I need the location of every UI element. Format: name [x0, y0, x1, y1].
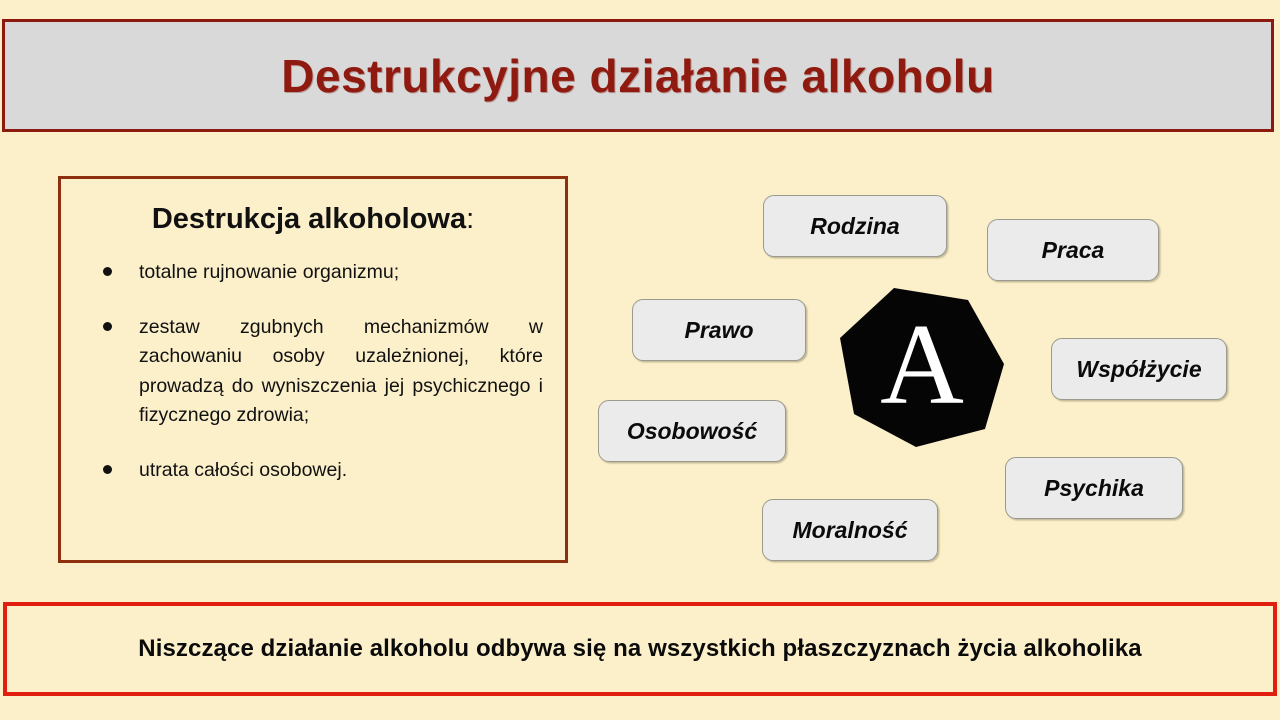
list-item-label: zestaw zgubnych mechanizmów w zachowaniu…: [139, 313, 543, 432]
diagram-node-moralnosc: Moralność: [762, 499, 938, 561]
diagram-node-label: Praca: [1042, 237, 1105, 264]
list-item-label: totalne rujnowanie organizmu;: [139, 258, 543, 288]
bullet-dot-icon: [103, 322, 112, 331]
list-item-label: utrata całości osobowej.: [139, 456, 543, 486]
diagram-node-label: Rodzina: [810, 213, 899, 240]
diagram-node-label: Osobowość: [627, 418, 757, 445]
bullet-dot-icon: [103, 267, 112, 276]
diagram-center-node: A: [838, 286, 1006, 448]
list-item: utrata całości osobowej.: [97, 456, 543, 486]
diagram-node-rodzina: Rodzina: [763, 195, 947, 257]
slide-root: Destrukcyjne działanie alkoholu Destrukc…: [0, 0, 1280, 720]
destruction-info-panel: Destrukcja alkoholowa: totalne rujnowani…: [58, 176, 568, 563]
alcohol-impact-diagram: Rodzina Praca Prawo Współżycie Osobowość…: [590, 176, 1250, 566]
list-item: zestaw zgubnych mechanizmów w zachowaniu…: [97, 313, 543, 432]
panel-heading-colon: :: [466, 203, 474, 235]
bullet-dot-icon: [103, 465, 112, 474]
list-item: totalne rujnowanie organizmu;: [97, 258, 543, 288]
center-letter-a: A: [838, 286, 1006, 448]
diagram-node-praca: Praca: [987, 219, 1159, 281]
diagram-node-label: Moralność: [792, 517, 907, 544]
panel-heading-strong: Destrukcja alkoholowa: [152, 203, 466, 235]
diagram-node-prawo: Prawo: [632, 299, 806, 361]
diagram-node-psychika: Psychika: [1005, 457, 1183, 519]
slide-title-band: Destrukcyjne działanie alkoholu: [2, 19, 1274, 132]
panel-heading: Destrukcja alkoholowa:: [61, 204, 565, 236]
summary-banner-text: Niszczące działanie alkoholu odbywa się …: [138, 635, 1141, 663]
diagram-node-osobowosc: Osobowość: [598, 400, 786, 462]
diagram-node-label: Prawo: [684, 317, 753, 344]
page-title: Destrukcyjne działanie alkoholu: [281, 53, 994, 99]
diagram-node-label: Współżycie: [1076, 356, 1201, 383]
diagram-node-wspolzycie: Współżycie: [1051, 338, 1227, 400]
summary-banner: Niszczące działanie alkoholu odbywa się …: [3, 602, 1277, 696]
diagram-node-label: Psychika: [1044, 475, 1144, 502]
destruction-bullet-list: totalne rujnowanie organizmu; zestaw zgu…: [61, 258, 565, 486]
